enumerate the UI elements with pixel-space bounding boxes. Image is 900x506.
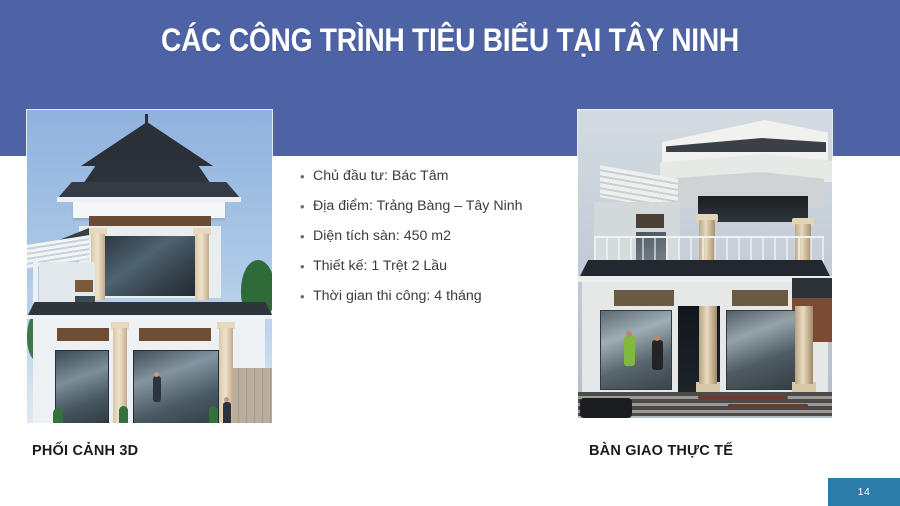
photo-handover[interactable] [578,110,832,418]
render-figure-interior [153,376,161,402]
render-upper-glass [105,236,195,296]
photo-worker-dark [652,340,663,370]
photo-motorbike [580,398,632,418]
render-roof-peak [81,122,213,166]
render-upper-band [89,216,211,226]
render-glass-door-main [133,350,219,423]
render-glass-door-left [55,350,109,423]
list-item: • Địa điểm: Trảng Bàng – Tây Ninh [300,198,550,216]
photo-lintel-left [614,290,674,306]
page-title: CÁC CÔNG TRÌNH TIÊU BIỂU TẠI TÂY NINH [54,22,846,59]
photo-worker-green [624,336,635,366]
render-lintel-right [139,328,211,341]
bullet-marker-icon: • [300,288,313,306]
render-shrub-c [53,408,63,423]
render-figure-interior-head [154,372,159,377]
list-item-label: Diện tích sàn: 450 m2 [313,228,550,245]
photo-glass-door-right [726,310,798,390]
list-item-label: Thời gian thi công: 4 tháng [313,288,550,305]
list-item: • Diện tích sàn: 450 m2 [300,228,550,246]
list-item-label: Chủ đầu tư: Bác Tâm [313,168,550,185]
bullet-marker-icon: • [300,198,313,216]
render-figure-foreground [223,402,231,423]
render-lintel-left [57,328,109,341]
caption-handover: BÀN GIAO THỰC TẾ [589,443,733,459]
list-item: • Thời gian thi công: 4 tháng [300,288,550,306]
page-number-badge: 14 [828,478,900,506]
photo-lintel-right [732,290,788,306]
photo-3d-render[interactable] [27,110,272,423]
bullet-marker-icon: • [300,168,313,186]
render-figure-foreground-head [224,397,229,402]
bullet-list: • Chủ đầu tư: Bác Tâm • Địa điểm: Trảng … [300,168,550,318]
photo-worker-dark-head [654,335,660,341]
photo-ground-column-left [699,306,717,384]
photo-debris-b [728,404,808,407]
slide: CÁC CÔNG TRÌNH TIÊU BIỂU TẠI TÂY NINH [0,0,900,506]
photo-side-window [636,214,664,228]
render-side-window [75,280,93,292]
photo-debris-a [698,396,788,399]
photo-ground-column-right [795,306,813,384]
caption-3d-render: PHỐI CẢNH 3D [32,443,138,459]
render-column-upper-right [195,234,209,300]
list-item: • Thiết kế: 1 Trệt 2 Lầu [300,258,550,276]
photo-right-dark-panel [792,278,832,300]
bullet-marker-icon: • [300,228,313,246]
list-item-label: Địa điểm: Trảng Bàng – Tây Ninh [313,198,550,215]
render-shrub-a [119,406,128,423]
render-shrub-b [209,406,218,423]
list-item: • Chủ đầu tư: Bác Tâm [300,168,550,186]
list-item-label: Thiết kế: 1 Trệt 2 Lầu [313,258,550,275]
photo-worker-green-head [626,331,632,337]
bullet-marker-icon: • [300,258,313,276]
photo-balcony-railing [594,236,824,264]
